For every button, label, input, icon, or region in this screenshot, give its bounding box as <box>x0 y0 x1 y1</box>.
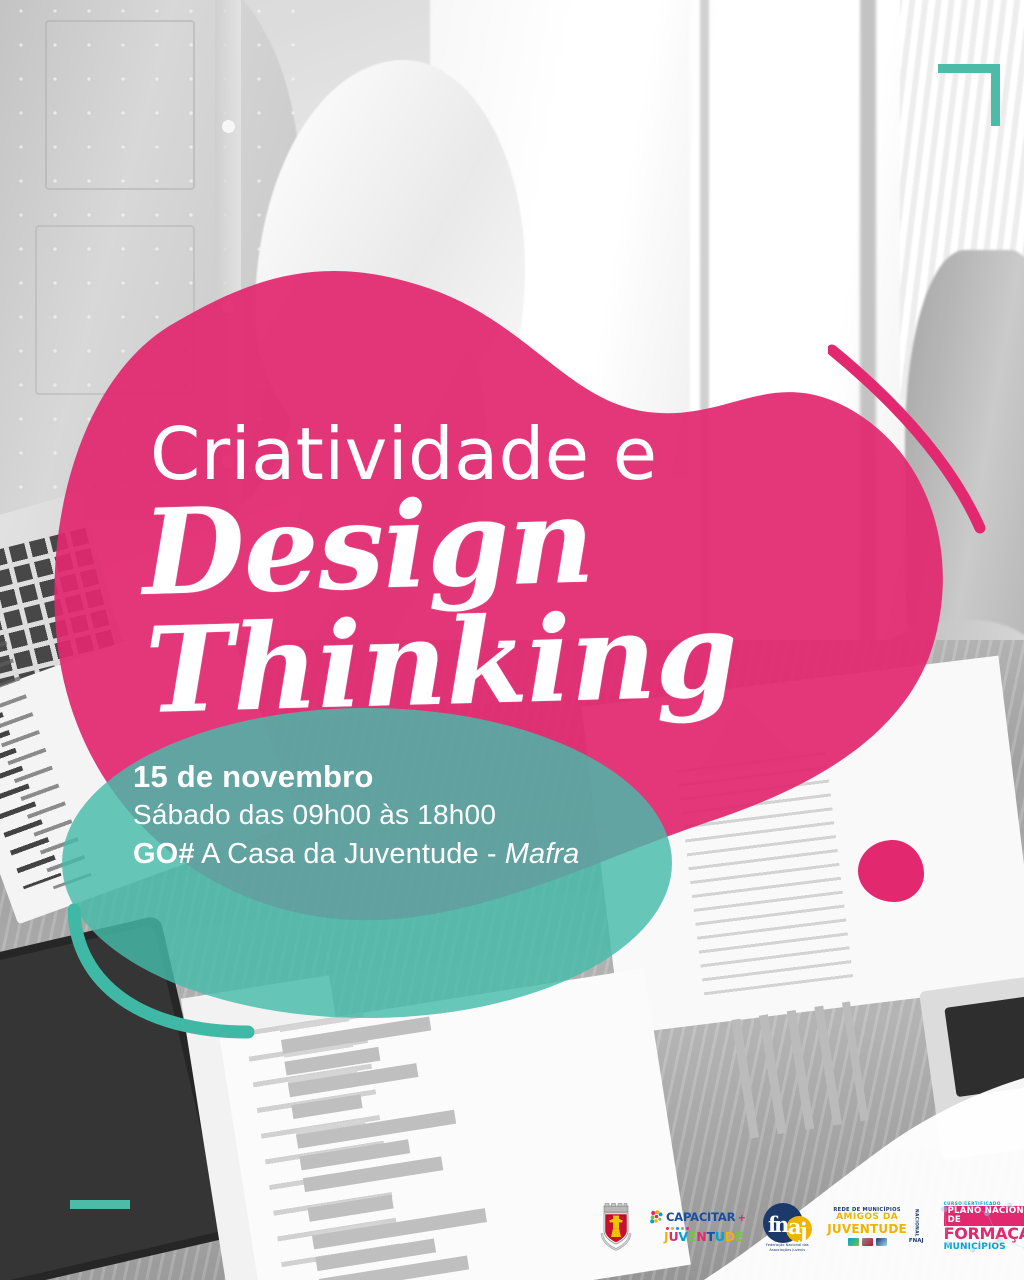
logo-strip: CAPACITAR + JUVENTUDE f <box>596 1198 1024 1256</box>
venue-name: A Casa da Juventude - <box>195 838 505 870</box>
photo-shirt-pocket <box>45 20 195 190</box>
mafra-crest-logo <box>596 1203 636 1251</box>
partner-mini-icons <box>848 1238 887 1246</box>
network-pattern-icon <box>938 1199 1024 1254</box>
plano-nacional-formacao-logo: CURSO CERTIFICADO PLANO NACIONAL DE FORM… <box>938 1199 1024 1255</box>
venue-city: Mafra <box>505 838 580 870</box>
event-venue: GO# A Casa da Juventude - Mafra <box>133 835 753 873</box>
photo-chart-bars <box>280 991 581 1280</box>
juventude-label: JUVENTUDE <box>827 1223 907 1236</box>
capacitar-juventude-logo: CAPACITAR + JUVENTUDE <box>650 1199 745 1255</box>
fnaj-logo: f n a j Federação Nacional das Associaçõ… <box>759 1199 813 1255</box>
event-time: Sábado das 09h00 às 18h00 <box>133 797 753 833</box>
teal-arc-icon <box>62 892 272 1052</box>
amigos-da-juventude-logo: REDE DE MUNICÍPIOS AMIGOS DA JUVENTUDE N… <box>827 1199 923 1255</box>
venue-code: GO# <box>133 838 195 870</box>
svg-text:j: j <box>798 1218 808 1243</box>
fnaj-side-label: FNAJ <box>909 1238 924 1244</box>
corner-bracket-icon <box>938 64 1000 126</box>
juventude-wordmark: JUVENTUDE <box>664 1231 743 1244</box>
event-details: 15 de novembro Sábado das 09h00 às 18h00… <box>133 757 753 873</box>
event-date: 15 de novembro <box>133 757 753 797</box>
svg-text:n: n <box>774 1212 789 1237</box>
teal-dash-icon <box>70 1200 130 1209</box>
capacitar-wordmark: CAPACITAR <box>666 1212 735 1224</box>
colorful-pinwheel-icon <box>650 1210 663 1225</box>
event-poster: Criatividade e Design Thinking 15 de nov… <box>0 0 1024 1280</box>
pink-dot-icon <box>858 840 924 902</box>
fnaj-subtitle: Federação Nacional das Associações Juven… <box>761 1243 813 1253</box>
title-line-script: Design Thinking <box>141 472 953 730</box>
fnaj-mark-icon: f n a j <box>759 1202 813 1248</box>
nacional-vertical-label: NACIONAL <box>914 1209 919 1237</box>
coat-of-arms-icon <box>596 1203 636 1251</box>
capacitar-plus-icon: + <box>738 1212 745 1224</box>
photo-shirt-button <box>222 120 235 133</box>
poster-title: Criatividade e Design Thinking <box>150 418 950 730</box>
